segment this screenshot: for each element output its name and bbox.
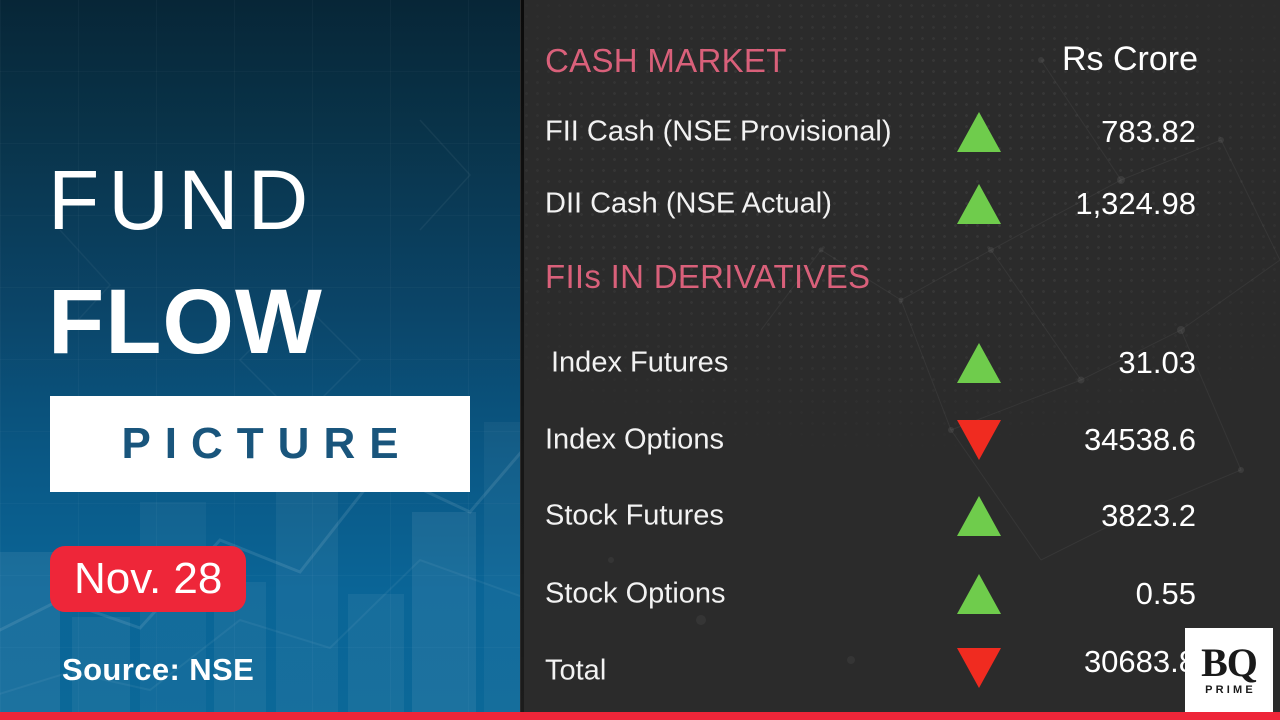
unit-label: Rs Crore	[1062, 40, 1198, 79]
logo-subtitle: PRIME	[1202, 684, 1256, 696]
row-value: 0.55	[1136, 576, 1196, 612]
left-branding-panel: FUND FLOW PICTURE Nov. 28 Source: NSE	[0, 0, 520, 720]
row-label: Index Futures	[551, 347, 728, 380]
row-label: Index Options	[545, 424, 724, 457]
row-label: DII Cash (NSE Actual)	[545, 188, 832, 221]
bottom-accent-bar	[0, 712, 1280, 720]
row-label: Stock Options	[545, 578, 726, 611]
row-label: FII Cash (NSE Provisional)	[545, 116, 892, 149]
date-badge: Nov. 28	[50, 546, 246, 612]
table-row: Stock Futures 3823.2	[521, 488, 1280, 544]
arrow-up-icon	[955, 182, 1003, 226]
arrow-up-icon	[955, 494, 1003, 538]
table-row: Index Options 34538.6	[521, 412, 1280, 468]
table-row: Total 30683.8	[521, 643, 1280, 699]
title-line-fund: FUND	[48, 158, 317, 242]
row-value: 1,324.98	[1075, 186, 1196, 222]
bq-prime-logo: BQ PRIME	[1185, 628, 1273, 712]
table-row: DII Cash (NSE Actual) 1,324.98	[521, 176, 1280, 232]
date-badge-label: Nov. 28	[74, 557, 222, 601]
row-value: 3823.2	[1101, 498, 1196, 534]
row-label: Total	[545, 655, 606, 688]
title-line-picture: PICTURE	[107, 419, 412, 469]
table-row: Stock Options 0.55	[521, 566, 1280, 622]
row-value: 31.03	[1118, 345, 1196, 381]
title-line-flow: FLOW	[48, 276, 323, 368]
arrow-down-icon	[955, 418, 1003, 462]
row-value: 34538.6	[1084, 422, 1196, 458]
section-heading-fiis-in-derivatives: FIIs IN DERIVATIVES	[545, 258, 870, 296]
row-label: Stock Futures	[545, 500, 724, 533]
arrow-up-icon	[955, 341, 1003, 385]
infographic-root: FUND FLOW PICTURE Nov. 28 Source: NSE	[0, 0, 1280, 720]
table-row: Index Futures 31.03	[521, 335, 1280, 391]
row-value: 783.82	[1101, 114, 1196, 150]
source-label: Source: NSE	[62, 652, 254, 688]
logo-mark: BQ	[1201, 645, 1257, 681]
section-heading-cash-market: CASH MARKET	[545, 42, 787, 80]
data-panel: CASH MARKET Rs Crore FII Cash (NSE Provi…	[521, 0, 1280, 720]
table-row: FII Cash (NSE Provisional) 783.82	[521, 104, 1280, 160]
arrow-up-icon	[955, 110, 1003, 154]
arrow-down-icon	[955, 646, 1003, 690]
arrow-up-icon	[955, 572, 1003, 616]
row-value: 30683.8	[1084, 644, 1196, 680]
title-picture-box: PICTURE	[50, 396, 470, 492]
